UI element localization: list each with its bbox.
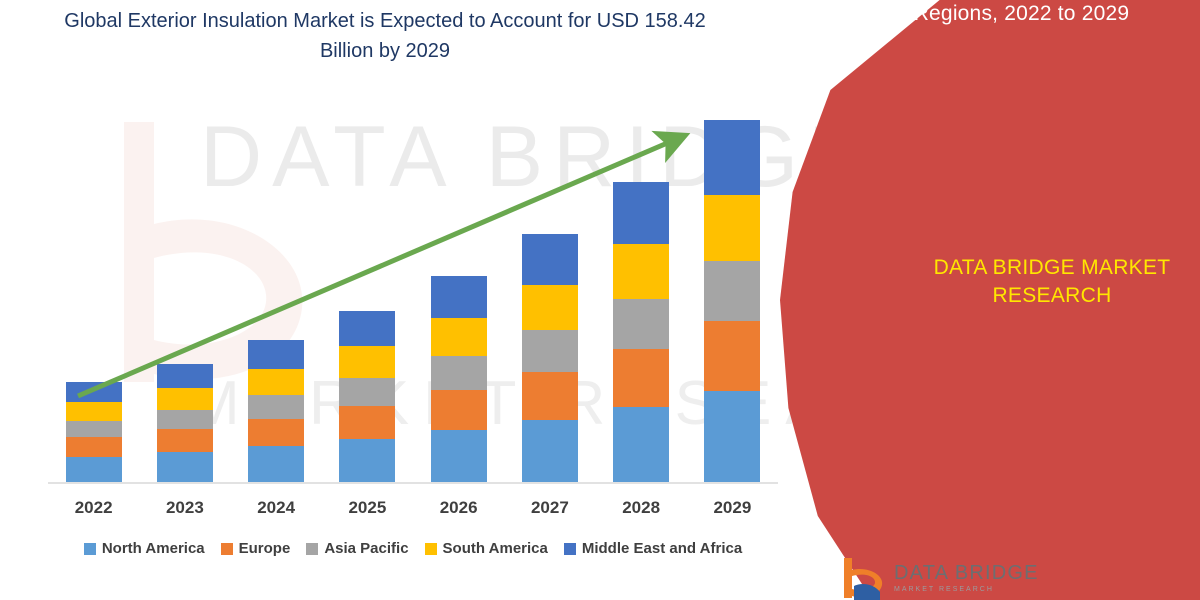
bar-segment bbox=[248, 419, 304, 446]
x-axis-label: 2024 bbox=[236, 498, 316, 518]
x-axis-labels: 20222023202420252026202720282029 bbox=[48, 498, 778, 524]
bar-segment bbox=[704, 120, 760, 195]
bar-segment bbox=[613, 182, 669, 244]
chart-plot-area: 20222023202420252026202720282029 bbox=[0, 0, 800, 600]
legend-label: Asia Pacific bbox=[324, 540, 408, 557]
bar-segment bbox=[339, 311, 395, 346]
footer-logo: DATA BRIDGE MARKET RESEARCH bbox=[840, 556, 1039, 600]
infographic-root: DATA BRIDGE MARKET RESEARCH Global Exter… bbox=[0, 0, 1200, 600]
legend-swatch bbox=[306, 543, 318, 555]
stacked-bar-group bbox=[48, 120, 778, 482]
data-bridge-logo-icon bbox=[840, 556, 886, 600]
x-axis-label: 2026 bbox=[419, 498, 499, 518]
bar-column bbox=[339, 311, 395, 482]
chart-title: Global Exterior Insulation Market is Exp… bbox=[55, 6, 715, 66]
bar-segment bbox=[66, 421, 122, 438]
x-axis-label: 2025 bbox=[327, 498, 407, 518]
bar-column bbox=[431, 276, 487, 482]
bar-segment bbox=[431, 276, 487, 319]
bar-segment bbox=[248, 369, 304, 395]
bar-segment bbox=[522, 372, 578, 420]
legend-label: Middle East and Africa bbox=[582, 540, 742, 557]
bar-segment bbox=[431, 390, 487, 430]
x-axis-label: 2022 bbox=[54, 498, 134, 518]
legend-swatch bbox=[221, 543, 233, 555]
bar-segment bbox=[522, 234, 578, 285]
bar-segment bbox=[704, 391, 760, 482]
panel-subtitle: By Regions, 2022 to 2029 bbox=[826, 2, 1186, 26]
bar-segment bbox=[704, 195, 760, 261]
x-axis-label: 2027 bbox=[510, 498, 590, 518]
legend-swatch bbox=[425, 543, 437, 555]
bar-segment bbox=[157, 452, 213, 482]
bar-column bbox=[66, 382, 122, 482]
legend-label: Europe bbox=[239, 540, 291, 557]
bar-column bbox=[704, 120, 760, 482]
footer-logo-primary: DATA BRIDGE bbox=[894, 563, 1039, 583]
legend-item[interactable]: North America bbox=[84, 540, 205, 557]
brand-line-2: RESEARCH bbox=[892, 284, 1200, 308]
legend-item[interactable]: Asia Pacific bbox=[306, 540, 408, 557]
bar-segment bbox=[613, 349, 669, 407]
legend-item[interactable]: Europe bbox=[221, 540, 291, 557]
bar-column bbox=[248, 340, 304, 482]
legend-label: North America bbox=[102, 540, 205, 557]
x-axis-label: 2029 bbox=[692, 498, 772, 518]
brand-line-1: DATA BRIDGE MARKET bbox=[892, 256, 1200, 280]
legend-item[interactable]: South America bbox=[425, 540, 548, 557]
bar-segment bbox=[66, 402, 122, 420]
bar-segment bbox=[339, 346, 395, 377]
bar-segment bbox=[522, 285, 578, 330]
x-axis-label: 2028 bbox=[601, 498, 681, 518]
x-axis-label: 2023 bbox=[145, 498, 225, 518]
bar-segment bbox=[157, 410, 213, 430]
bar-segment bbox=[66, 437, 122, 456]
x-axis-baseline bbox=[48, 482, 778, 484]
bar-segment bbox=[613, 244, 669, 299]
bar-segment bbox=[431, 356, 487, 390]
bar-segment bbox=[66, 457, 122, 482]
bar-segment bbox=[339, 378, 395, 407]
bar-column bbox=[522, 234, 578, 482]
bar-segment bbox=[522, 330, 578, 371]
bar-segment bbox=[704, 321, 760, 391]
bar-segment bbox=[66, 382, 122, 403]
bar-segment bbox=[613, 299, 669, 349]
bar-segment bbox=[522, 420, 578, 482]
legend-label: South America bbox=[443, 540, 548, 557]
bar-segment bbox=[613, 407, 669, 482]
bar-segment bbox=[157, 429, 213, 452]
legend-swatch bbox=[564, 543, 576, 555]
bar-segment bbox=[704, 261, 760, 321]
chart-legend: North AmericaEuropeAsia PacificSouth Ame… bbox=[48, 540, 778, 557]
bar-segment bbox=[431, 430, 487, 482]
bar-segment bbox=[431, 318, 487, 356]
bar-segment bbox=[248, 340, 304, 369]
legend-item[interactable]: Middle East and Africa bbox=[564, 540, 742, 557]
legend-swatch bbox=[84, 543, 96, 555]
bar-segment bbox=[248, 395, 304, 419]
bar-segment bbox=[339, 406, 395, 439]
bar-column bbox=[157, 364, 213, 482]
bar-segment bbox=[157, 388, 213, 410]
footer-logo-secondary: MARKET RESEARCH bbox=[894, 586, 1039, 593]
bar-column bbox=[613, 182, 669, 482]
bar-segment bbox=[339, 439, 395, 482]
bar-segment bbox=[157, 364, 213, 388]
bar-segment bbox=[248, 446, 304, 482]
